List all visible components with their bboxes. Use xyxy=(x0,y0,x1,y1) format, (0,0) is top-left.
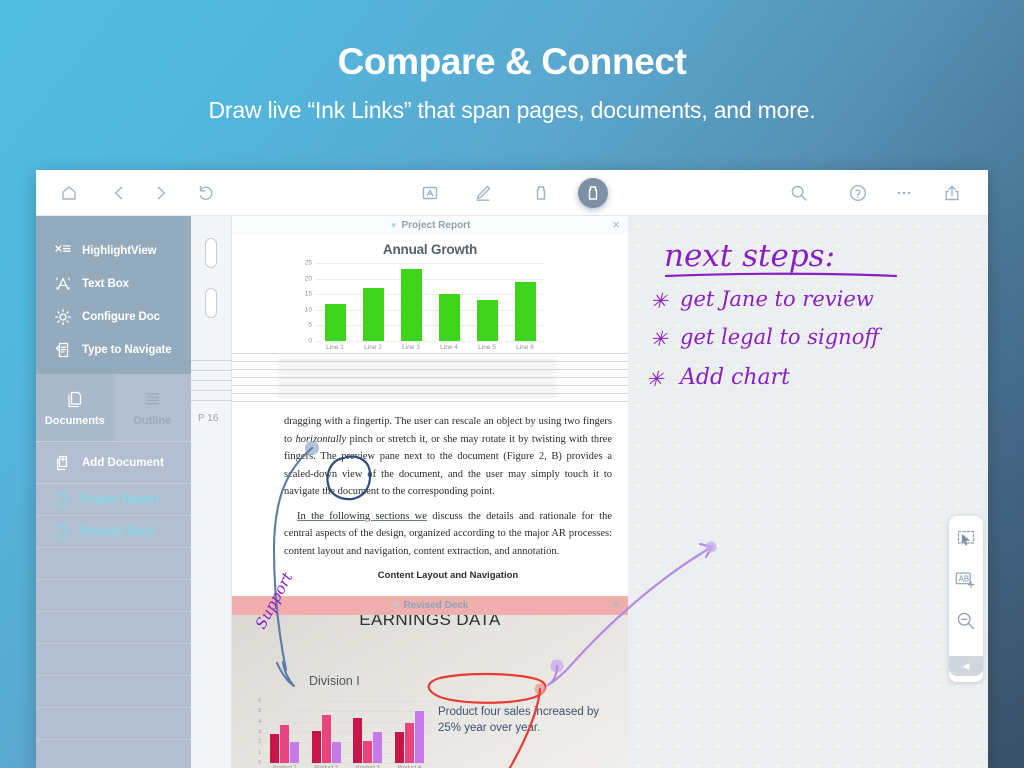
sidebar-tool-list: HighlightView Text Box xyxy=(36,216,191,374)
tab-documents[interactable]: Documents xyxy=(36,374,114,441)
sidebar-document-slot xyxy=(36,612,191,644)
sidebar-item-label: HighlightView xyxy=(82,245,157,257)
document-tab-revised-deck[interactable]: ▼ Revised Deck × xyxy=(232,596,628,615)
sidebar-item-highlightview[interactable]: HighlightView xyxy=(36,234,191,267)
bar xyxy=(363,741,372,763)
file-icon xyxy=(53,523,71,541)
gridline xyxy=(316,294,544,295)
page-rail: P 16 xyxy=(191,216,232,768)
bar xyxy=(477,300,498,341)
undo-icon[interactable] xyxy=(191,178,221,208)
bullet-glyph: ✳ xyxy=(650,327,669,351)
x-axis-tick-label: Line 1 xyxy=(315,344,355,351)
x-axis-tick-label: Line 6 xyxy=(505,344,545,351)
page-subtitle: Draw live “Ink Links” that span pages, d… xyxy=(0,97,1024,124)
y-axis-tick-label: 10 xyxy=(305,306,312,313)
gridline xyxy=(316,341,544,342)
svg-text:AB: AB xyxy=(959,574,969,583)
y-axis-tick-label: 1 xyxy=(258,750,261,756)
more-icon[interactable] xyxy=(889,178,919,208)
bar xyxy=(290,742,299,763)
page-scroll-handle[interactable] xyxy=(205,238,217,268)
add-document-label: Add Document xyxy=(82,457,164,469)
document-tab-label: Revised Deck xyxy=(403,600,468,611)
close-icon[interactable]: × xyxy=(612,598,620,612)
bar xyxy=(405,723,414,763)
annual-growth-chart: 0510152025Line 1Line 2Line 3Line 4Line 5… xyxy=(316,263,544,341)
configure-doc-icon xyxy=(53,307,73,327)
add-document-icon xyxy=(53,453,73,473)
share-icon[interactable] xyxy=(937,178,967,208)
y-axis-tick-label: 3 xyxy=(258,729,261,735)
tab-outline[interactable]: Outline xyxy=(114,374,192,441)
ink-canvas[interactable]: next steps: ✳ get Jane to review ✳ get l… xyxy=(628,216,988,768)
x-axis-tick-label: Line 3 xyxy=(391,344,431,351)
page-number-label: P 16 xyxy=(198,413,218,424)
sidebar-segmented-control: Documents Outline xyxy=(36,374,191,442)
bar xyxy=(325,304,346,341)
y-axis-tick-label: 0 xyxy=(258,760,261,766)
y-axis-tick-label: 25 xyxy=(305,260,312,267)
gridline xyxy=(264,711,430,712)
bullet-glyph: ✳ xyxy=(646,367,665,391)
slide-note: Product four sales increased by 25% year… xyxy=(438,704,603,736)
gridline xyxy=(316,263,544,264)
x-axis-tick-label: Line 2 xyxy=(353,344,393,351)
add-text-icon[interactable]: AB xyxy=(954,568,978,592)
app-window: HighlightView Text Box xyxy=(36,170,988,768)
bar xyxy=(515,282,536,341)
back-icon[interactable] xyxy=(104,178,134,208)
blurred-text-block xyxy=(278,359,556,397)
bar xyxy=(270,734,279,763)
sidebar-document-slot xyxy=(36,676,191,708)
outline-icon xyxy=(142,389,163,410)
notes-heading: next steps: xyxy=(664,238,835,274)
y-axis-tick-label: 6 xyxy=(258,698,261,704)
sidebar-item-label: Type to Navigate xyxy=(82,344,172,356)
bar xyxy=(373,732,382,763)
palette-collapse-button[interactable]: ◀ xyxy=(949,656,983,676)
y-axis-tick-label: 0 xyxy=(308,338,312,345)
sidebar-item-configure-doc[interactable]: Configure Doc xyxy=(36,300,191,333)
bar xyxy=(363,288,384,341)
bar xyxy=(322,715,331,763)
search-icon[interactable] xyxy=(784,178,814,208)
revised-deck-panel: ▼ Revised Deck × EARNINGS DATA Division … xyxy=(232,596,628,768)
y-axis-tick-label: 15 xyxy=(305,291,312,298)
handwritten-notes: next steps: ✳ get Jane to review ✳ get l… xyxy=(628,216,988,768)
floating-tool-palette: AB ◀ xyxy=(949,516,983,682)
document-body-text: dragging with a fingertip. The user can … xyxy=(232,405,628,585)
screenshot-root: Compare & Connect Draw live “Ink Links” … xyxy=(0,0,1024,768)
chart-subtitle: Division I xyxy=(309,674,360,688)
document-tab-project-report[interactable]: ▼ Project Report × xyxy=(232,216,628,234)
file-icon xyxy=(53,491,71,509)
sidebar-document-label: Revised Deck xyxy=(80,526,155,538)
y-axis-tick-label: 5 xyxy=(258,708,261,714)
bar xyxy=(439,294,460,341)
close-icon[interactable]: × xyxy=(612,218,620,232)
chevron-down-icon[interactable]: ▼ xyxy=(390,221,398,230)
bar xyxy=(353,718,362,763)
tab-label: Outline xyxy=(133,415,171,427)
gridline xyxy=(264,701,430,702)
paragraph: In the following sections we discuss the… xyxy=(284,508,612,561)
page-scroll-handle[interactable] xyxy=(205,288,217,318)
zoom-out-icon[interactable] xyxy=(954,609,978,633)
page-transition-band xyxy=(232,353,628,405)
forward-icon[interactable] xyxy=(146,178,176,208)
sidebar-document-slot xyxy=(36,708,191,740)
bar xyxy=(415,711,424,763)
y-axis-tick-label: 5 xyxy=(308,322,312,329)
gridline xyxy=(264,763,430,764)
document-viewport: ▼ Project Report × Annual Growth 0510152… xyxy=(232,216,628,768)
bar xyxy=(312,731,321,763)
gridline xyxy=(316,325,544,326)
document-tab-label: Project Report xyxy=(402,220,471,231)
marketing-headline: Compare & Connect Draw live “Ink Links” … xyxy=(0,42,1024,124)
text-box-icon[interactable] xyxy=(415,178,445,208)
annual-growth-chart-block: Annual Growth 0510152025Line 1Line 2Line… xyxy=(232,234,628,345)
gridline xyxy=(316,310,544,311)
notes-item: get legal to signoff xyxy=(680,325,882,349)
y-axis-tick-label: 4 xyxy=(258,719,261,725)
sidebar-document-slot xyxy=(36,580,191,612)
add-document-button[interactable]: Add Document xyxy=(36,442,191,484)
bar xyxy=(332,742,341,763)
eraser-icon[interactable] xyxy=(526,178,556,208)
y-axis-tick-label: 2 xyxy=(258,739,261,745)
home-icon[interactable] xyxy=(54,178,84,208)
pen-icon[interactable] xyxy=(468,178,498,208)
sidebar-document-project-report[interactable]: Project Report xyxy=(36,484,191,516)
sidebar-item-label: Text Box xyxy=(82,278,129,290)
sidebar-document-slot xyxy=(36,644,191,676)
text-box-icon xyxy=(53,274,73,294)
gridline xyxy=(316,279,544,280)
chevron-down-icon[interactable]: ▼ xyxy=(392,601,400,610)
x-axis-tick-label: Line 4 xyxy=(429,344,469,351)
sidebar-item-text-box[interactable]: Text Box xyxy=(36,267,191,300)
bar xyxy=(401,269,422,341)
sidebar-document-revised-deck[interactable]: Revised Deck xyxy=(36,516,191,548)
bar xyxy=(280,725,289,763)
notes-item: get Jane to review xyxy=(680,287,874,311)
y-axis-tick-label: 20 xyxy=(305,275,312,282)
page-title: Compare & Connect xyxy=(0,42,1024,83)
lasso-select-icon[interactable] xyxy=(954,527,978,551)
palette-collapse-label: ◀ xyxy=(963,661,970,672)
x-axis-tick-label: Line 5 xyxy=(467,344,507,351)
ink-link-icon[interactable] xyxy=(578,178,608,208)
bar xyxy=(395,732,404,763)
chart-title: Annual Growth xyxy=(232,242,628,257)
section-heading: Content Layout and Navigation xyxy=(284,567,612,585)
bullet-glyph: ✳ xyxy=(650,289,669,313)
left-sidebar: HighlightView Text Box xyxy=(36,216,191,768)
top-toolbar xyxy=(36,170,988,216)
sidebar-document-slot xyxy=(36,548,191,580)
notes-item: Add chart xyxy=(678,365,790,390)
sidebar-document-label: Project Report xyxy=(80,494,159,506)
sidebar-item-label: Configure Doc xyxy=(82,311,160,323)
paragraph: dragging with a fingertip. The user can … xyxy=(284,413,612,501)
earnings-chart: 0123456Product 1Product 2Product 3Produc… xyxy=(264,701,430,763)
highlight-view-icon xyxy=(53,241,73,261)
type-to-navigate-icon xyxy=(53,340,73,360)
sidebar-item-type-to-navigate[interactable]: Type to Navigate xyxy=(36,333,191,366)
documents-icon xyxy=(64,389,85,410)
tab-label: Documents xyxy=(45,415,105,427)
help-icon[interactable] xyxy=(843,178,873,208)
